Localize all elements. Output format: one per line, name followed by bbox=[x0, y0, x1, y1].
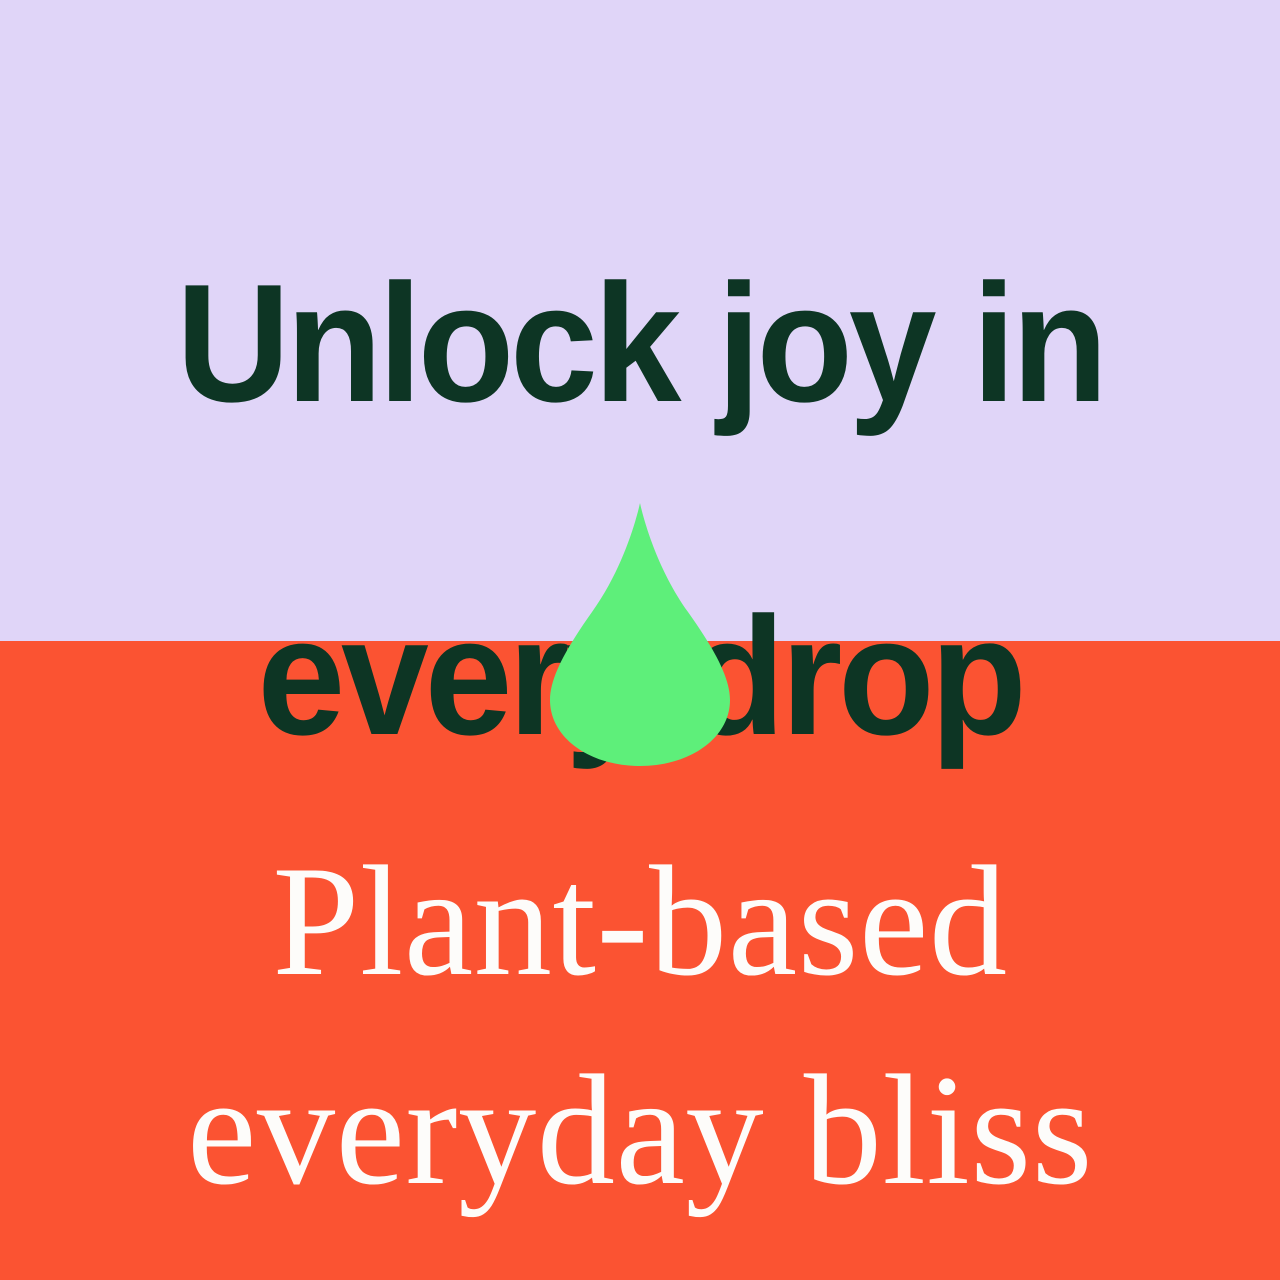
subline-line-2: everyday bliss bbox=[6, 1027, 1273, 1236]
headline-line-2: every drop bbox=[38, 593, 1241, 759]
subline: Plant-based everyday bliss bbox=[6, 818, 1273, 1235]
promo-card: Unlock joy in every drop Plant-based eve… bbox=[0, 0, 1280, 1280]
headline: Unlock joy in every drop bbox=[38, 94, 1241, 926]
headline-line-1: Unlock joy in bbox=[38, 260, 1241, 426]
subline-line-1: Plant-based bbox=[6, 818, 1273, 1027]
